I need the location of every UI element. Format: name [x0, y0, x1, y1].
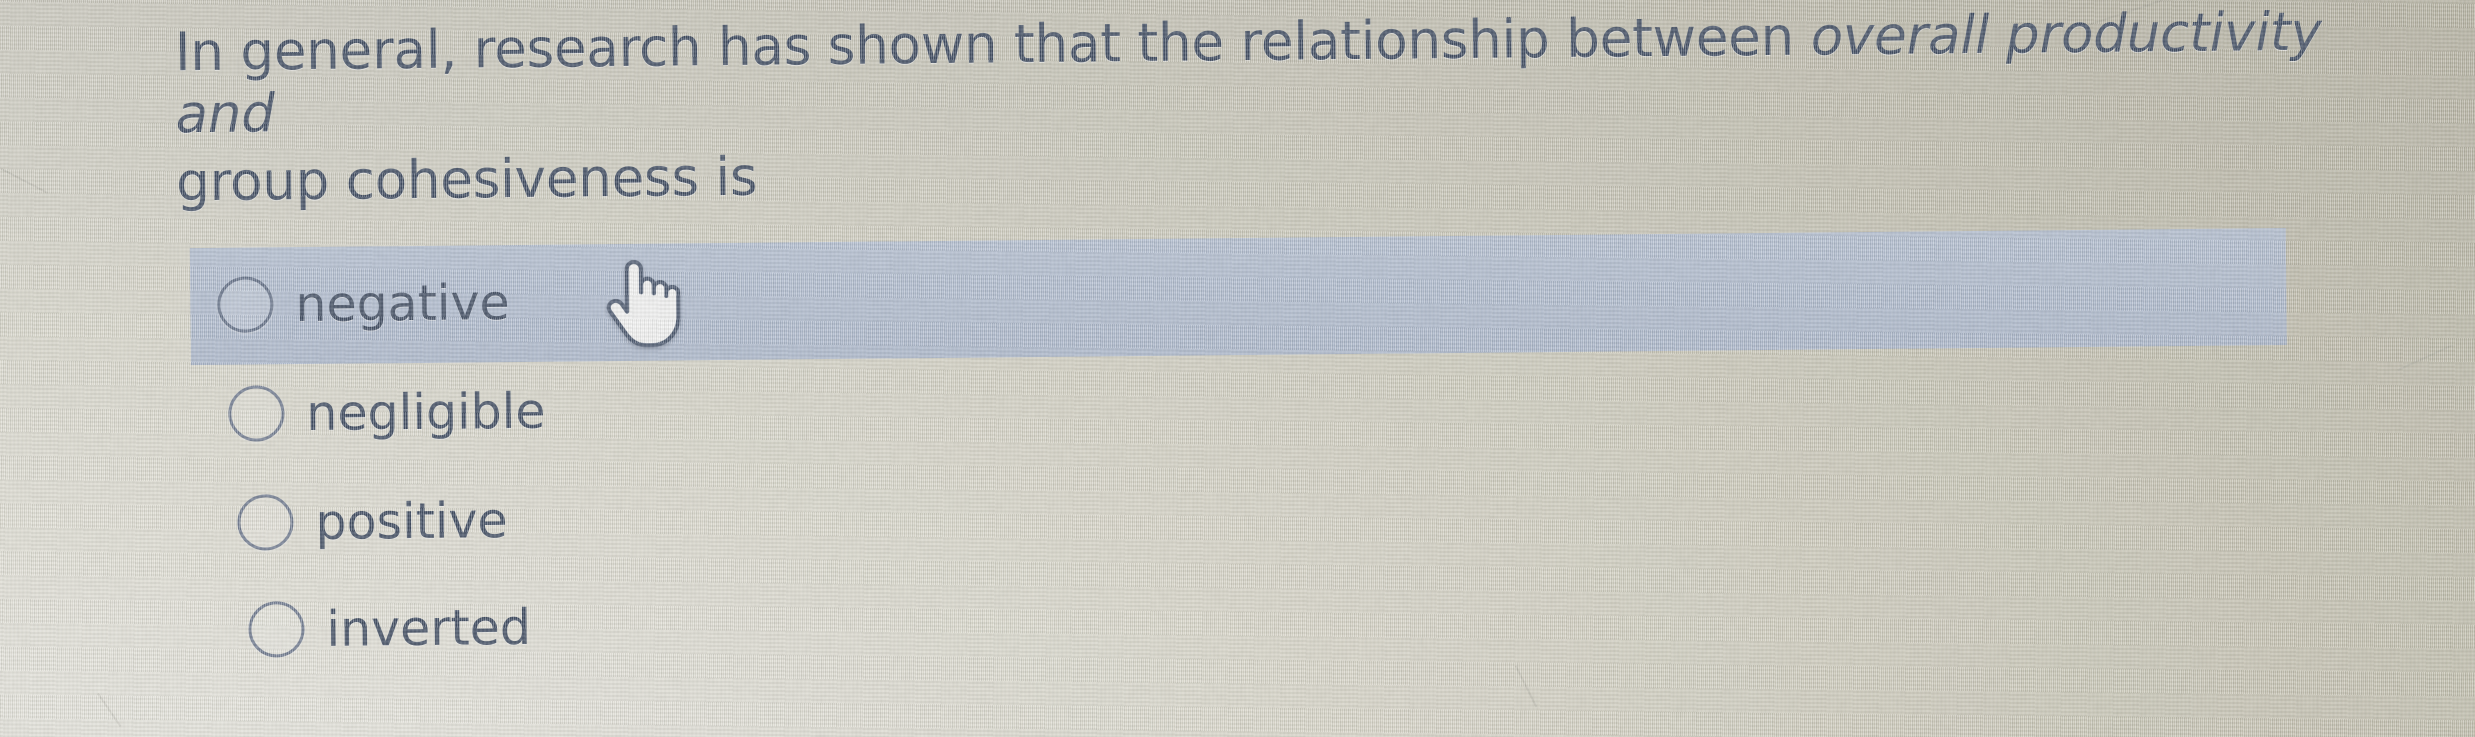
- quiz-content: In general, research has shown that the …: [0, 0, 2475, 737]
- question-text: In general, research has shown that the …: [175, 1, 2357, 214]
- panel-scratch: [2397, 344, 2452, 371]
- radio-button-negligible[interactable]: [228, 385, 285, 442]
- radio-button-positive[interactable]: [237, 494, 294, 551]
- option-row-negative[interactable]: negative: [217, 274, 510, 333]
- option-label-negative: negative: [295, 278, 510, 329]
- panel-scratch: [97, 693, 121, 727]
- question-line1-plain: In general, research has shown that the …: [175, 7, 1811, 84]
- question-line2: group cohesiveness is: [176, 131, 2356, 214]
- quiz-screen-photo: In general, research has shown that the …: [0, 0, 2475, 737]
- option-label-negligible: negligible: [306, 386, 546, 437]
- radio-button-inverted[interactable]: [248, 601, 305, 658]
- panel-scratch: [1515, 665, 1537, 707]
- option-row-negligible[interactable]: negligible: [228, 383, 546, 442]
- panel-scratch: [1, 168, 48, 194]
- option-label-positive: positive: [315, 496, 508, 547]
- option-label-inverted: inverted: [326, 602, 531, 653]
- option-row-positive[interactable]: positive: [237, 492, 508, 551]
- option-row-inverted[interactable]: inverted: [248, 599, 531, 658]
- radio-button-negative[interactable]: [217, 276, 274, 333]
